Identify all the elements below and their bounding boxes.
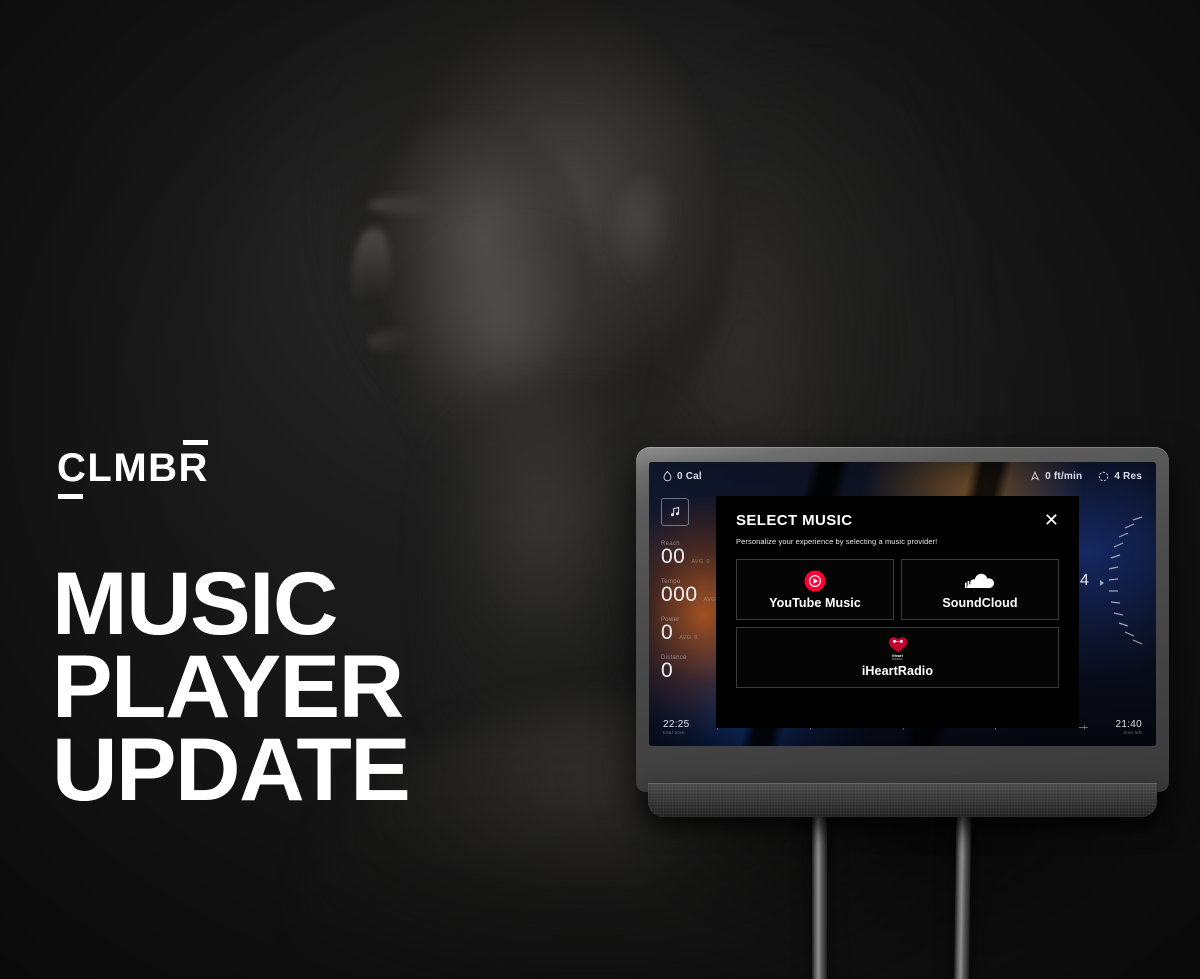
stand-post-right bbox=[954, 815, 972, 979]
caret-right-icon bbox=[1100, 580, 1104, 586]
provider-iheartradio-label: iHeartRadio bbox=[862, 664, 933, 678]
metric-reach-avg-value: 0 bbox=[706, 559, 709, 565]
timeline-elapsed-value: 22:25 bbox=[663, 719, 709, 730]
clmbr-console-device: 0 Cal 0 ft/min 4 Res bbox=[636, 447, 1169, 792]
portrait-ear-highlight bbox=[612, 176, 678, 284]
promo-poster: CLMBR MUSIC PLAYER UPDATE 0 Cal bbox=[0, 0, 1200, 979]
modal-title: SELECT MUSIC bbox=[736, 512, 852, 529]
status-bar: 0 Cal 0 ft/min 4 Res bbox=[649, 462, 1156, 490]
resistance-icon bbox=[1098, 471, 1109, 482]
device-screen[interactable]: 0 Cal 0 ft/min 4 Res bbox=[649, 462, 1156, 746]
logo-underbar-accent bbox=[58, 494, 83, 499]
provider-soundcloud-label: SoundCloud bbox=[942, 596, 1017, 610]
music-note-icon bbox=[669, 506, 681, 518]
timeline-remaining: 21:40 time left bbox=[1096, 719, 1142, 735]
provider-soundcloud[interactable]: SoundCloud bbox=[901, 559, 1059, 620]
metric-reach-value: 00 bbox=[661, 546, 685, 568]
modal-subtitle: Personalize your experience by selecting… bbox=[736, 537, 1059, 546]
metric-power-avg: AVG 0 bbox=[679, 635, 697, 641]
resistance-dial[interactable]: 4 bbox=[1078, 510, 1150, 660]
metric-power-avg-value: 0 bbox=[694, 635, 697, 641]
status-speed: 0 ft/min bbox=[1030, 471, 1082, 482]
status-speed-value: 0 ft/min bbox=[1045, 471, 1082, 482]
metric-distance-value: 0 bbox=[661, 660, 673, 682]
metric-tempo-value: 000 bbox=[661, 584, 698, 606]
headline-line-3: UPDATE bbox=[52, 728, 409, 811]
portrait-lip-highlight bbox=[368, 330, 422, 352]
portrait-nose-highlight bbox=[352, 228, 390, 324]
provider-iheartradio[interactable]: iHeart RADIO iHeartRadio bbox=[736, 627, 1059, 688]
provider-grid: YouTube Music SoundCloud bbox=[736, 559, 1059, 688]
headline-line-2: PLAYER bbox=[52, 645, 409, 728]
speed-icon bbox=[1030, 471, 1040, 481]
stand-post-left bbox=[812, 815, 827, 979]
music-button[interactable] bbox=[661, 498, 689, 526]
resistance-dial-value: 4 bbox=[1080, 572, 1089, 590]
timeline-remaining-value: 21:40 bbox=[1096, 719, 1142, 730]
timeline-remaining-caption: time left bbox=[1096, 730, 1142, 735]
youtube-music-icon bbox=[804, 570, 826, 592]
provider-youtube-music[interactable]: YouTube Music bbox=[736, 559, 894, 620]
close-icon[interactable]: ✕ bbox=[1044, 511, 1059, 529]
page-title: MUSIC PLAYER UPDATE bbox=[52, 562, 409, 810]
select-music-modal: SELECT MUSIC ✕ Personalize your experien… bbox=[716, 496, 1079, 728]
flame-icon bbox=[663, 471, 672, 482]
metric-tempo-avg-label: AVG bbox=[704, 597, 716, 603]
logo-overbar-accent bbox=[183, 440, 208, 445]
modal-header: SELECT MUSIC ✕ bbox=[736, 512, 1059, 529]
device-speaker-base bbox=[648, 783, 1157, 817]
iheartradio-wordmark-2: RADIO bbox=[892, 658, 902, 661]
metric-power-avg-label: AVG bbox=[679, 635, 691, 641]
clmbr-logo: CLMBR bbox=[57, 448, 209, 488]
metric-power-value: 0 bbox=[661, 622, 673, 644]
status-calories: 0 Cal bbox=[663, 471, 702, 482]
soundcloud-cloud-icon bbox=[965, 570, 995, 592]
timeline-elapsed-caption: total time bbox=[663, 730, 709, 735]
headline-line-1: MUSIC bbox=[52, 562, 409, 645]
status-calories-value: 0 Cal bbox=[677, 471, 702, 482]
timeline-elapsed: 22:25 total time bbox=[663, 719, 709, 735]
status-resistance-value: 4 Res bbox=[1114, 471, 1142, 482]
status-resistance: 4 Res bbox=[1098, 471, 1142, 482]
metric-reach-avg-label: AVG bbox=[691, 559, 703, 565]
provider-youtube-music-label: YouTube Music bbox=[769, 596, 861, 610]
metric-reach-avg: AVG 0 bbox=[691, 559, 709, 565]
portrait-brow-highlight bbox=[368, 196, 458, 214]
iheartradio-icon: iHeart RADIO bbox=[888, 638, 908, 660]
logo-wordmark: CLMBR bbox=[57, 448, 209, 488]
